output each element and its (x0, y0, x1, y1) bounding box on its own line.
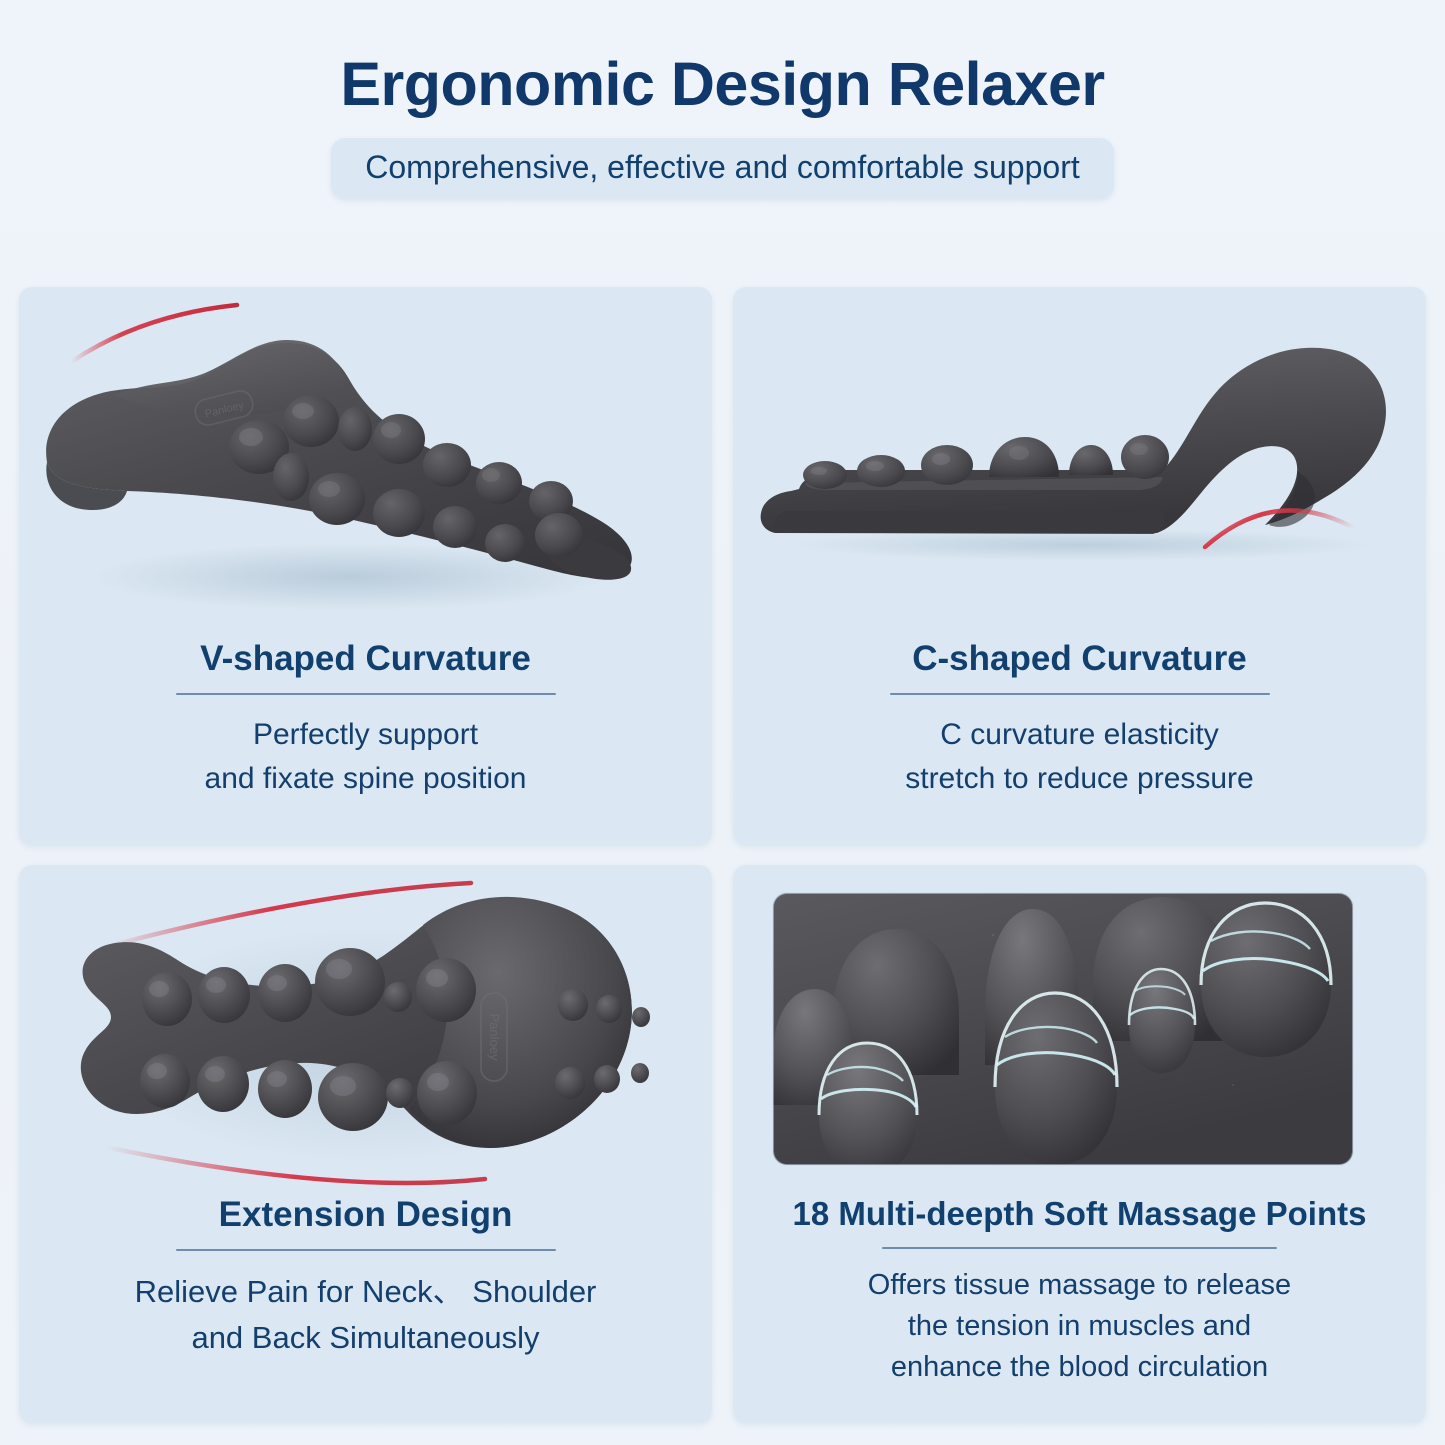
heading-divider (176, 693, 556, 695)
v-shaped-product-illustration: Panloey (19, 287, 712, 639)
heading-divider (176, 1249, 556, 1251)
massage-node-contour (1201, 903, 1331, 1057)
card-description-line: Offers tissue massage to release (868, 1269, 1291, 1301)
extension-product-illustration: Panloey (19, 865, 712, 1195)
product-image-c-shaped (733, 287, 1426, 639)
card-description-line: the tension in muscles and (908, 1310, 1251, 1342)
c-shaped-product-illustration (733, 287, 1426, 639)
svg-text:Panloey: Panloey (487, 1014, 502, 1061)
header: Ergonomic Design Relaxer Comprehensive, … (0, 0, 1445, 199)
feature-card-extension-design: Panloey Extension Design Relieve Pain fo… (19, 865, 712, 1423)
infographic-page: Ergonomic Design Relaxer Comprehensive, … (0, 0, 1445, 1445)
card-text-block: Extension Design Relieve Pain for Neck、 … (19, 1195, 712, 1360)
feature-card-c-shaped-curvature: C-shaped Curvature C curvature elasticit… (733, 287, 1426, 845)
card-heading: 18 Multi-deepth Soft Massage Points (755, 1195, 1404, 1233)
card-heading: C-shaped Curvature (755, 639, 1404, 679)
feature-card-v-shaped-curvature: Panloey V-shaped Curvature Perfectly sup… (19, 287, 712, 845)
product-image-extension: Panloey (19, 865, 712, 1195)
massage-node-contour (1129, 969, 1195, 1073)
card-description: Perfectly support and fixate spine posit… (41, 713, 690, 801)
card-text-block: C-shaped Curvature C curvature elasticit… (733, 639, 1426, 801)
card-heading: Extension Design (41, 1195, 690, 1235)
card-text-block: V-shaped Curvature Perfectly support and… (19, 639, 712, 801)
massage-points-closeup-illustration (733, 865, 1426, 1195)
card-description: C curvature elasticity stretch to reduce… (755, 713, 1404, 801)
card-description-line: C curvature elasticity (940, 718, 1218, 751)
massage-node-contour (995, 993, 1117, 1165)
heading-divider (890, 693, 1270, 695)
card-description: Offers tissue massage to release the ten… (755, 1265, 1404, 1389)
card-description: Relieve Pain for Neck、 Shoulder and Back… (41, 1269, 690, 1360)
card-description-line: Perfectly support (253, 718, 478, 751)
product-image-massage-points (733, 865, 1426, 1195)
card-description-line: enhance the blood circulation (891, 1351, 1268, 1383)
heading-divider (882, 1247, 1277, 1249)
card-description-line: and fixate spine position (205, 762, 527, 795)
massage-node-contour (819, 1043, 917, 1175)
card-description-line: Relieve Pain for Neck、 Shoulder (135, 1274, 597, 1309)
card-text-block: 18 Multi-deepth Soft Massage Points Offe… (733, 1195, 1426, 1388)
card-heading: V-shaped Curvature (41, 639, 690, 679)
feature-card-grid: Panloey V-shaped Curvature Perfectly sup… (19, 287, 1426, 1423)
page-title: Ergonomic Design Relaxer (0, 0, 1445, 116)
card-description-line: stretch to reduce pressure (905, 762, 1254, 795)
card-description-line: and Back Simultaneously (191, 1320, 539, 1355)
subtitle-badge: Comprehensive, effective and comfortable… (331, 138, 1113, 199)
product-image-v-shaped: Panloey (19, 287, 712, 639)
feature-card-massage-points: 18 Multi-deepth Soft Massage Points Offe… (733, 865, 1426, 1423)
